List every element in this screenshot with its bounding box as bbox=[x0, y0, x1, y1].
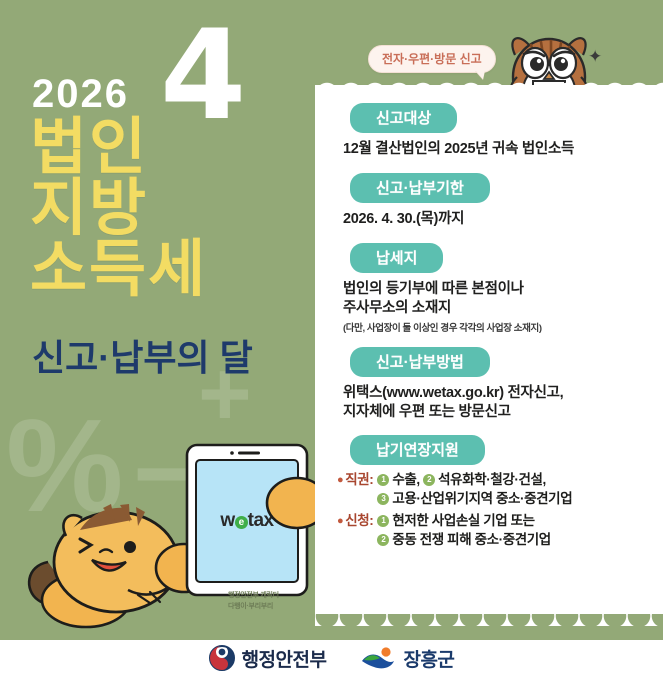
mascot-caption-line2: 다행이·부리부리 bbox=[228, 603, 273, 610]
section-3-line-2: 주사무소의 소재지 bbox=[343, 299, 663, 318]
extension-item-2-2: 중동 전쟁 피해 중소·중견기업 bbox=[392, 532, 550, 547]
poster-root: % – + 2026 4 법인 지방 소득세 신고·납부의 달 bbox=[0, 0, 663, 676]
taegeuk-icon bbox=[209, 645, 235, 671]
section-tax-place: 납세지 법인의 등기부에 따른 본점이나 주사무소의 소재지 (다만, 사업장이… bbox=[315, 243, 663, 334]
section-3-note: (다만, 사업장이 둘 이상인 경우 각각의 사업장 소재지) bbox=[343, 320, 663, 334]
extension-items-1: 1수출, 2석유화학·철강·건설, 3고용·산업위기지역 중소·중견기업 bbox=[377, 471, 572, 508]
title-line-1: 법인 bbox=[30, 118, 207, 179]
page-title: 법인 지방 소득세 bbox=[30, 118, 207, 300]
section-2-line-1: 2026. 4. 30.(목)까지 bbox=[343, 210, 663, 229]
year-label: 2026 bbox=[32, 74, 129, 114]
extension-item-1-1: 수출, bbox=[392, 472, 419, 487]
section-badge-2: 신고·납부기한 bbox=[350, 173, 490, 203]
section-badge-5: 납기연장지원 bbox=[350, 435, 485, 465]
extension-group-application: ● 신청: 1현저한 사업손실 기업 또는 2중동 전쟁 피해 중소·중견기업 bbox=[337, 512, 663, 549]
info-panel: 신고대상 12월 결산법인의 2025년 귀속 법인소득 신고·납부기한 202… bbox=[315, 85, 663, 630]
section-report-target: 신고대상 12월 결산법인의 2025년 귀속 법인소득 bbox=[315, 103, 663, 159]
extension-items-2: 1현저한 사업손실 기업 또는 2중동 전쟁 피해 중소·중견기업 bbox=[377, 512, 550, 549]
extension-item-1-3: 고용·산업위기지역 중소·중견기업 bbox=[392, 491, 572, 506]
section-badge-1: 신고대상 bbox=[350, 103, 457, 133]
section-deadline: 신고·납부기한 2026. 4. 30.(목)까지 bbox=[315, 173, 663, 229]
logo-jangheung: 장흥군 bbox=[360, 645, 454, 672]
logo-mois: 행정안전부 bbox=[209, 645, 327, 672]
section-badge-3: 납세지 bbox=[350, 243, 443, 273]
section-badge-4: 신고·납부방법 bbox=[350, 347, 490, 377]
num-badge-5: 2 bbox=[377, 534, 389, 546]
jangheung-mark-icon bbox=[360, 645, 396, 671]
logo-mois-label: 행정안전부 bbox=[242, 645, 327, 672]
section-body-2: 2026. 4. 30.(목)까지 bbox=[343, 210, 663, 229]
section-body-4: 위택스(www.wetax.go.kr) 전자신고, 지자체에 우편 또는 방문… bbox=[343, 384, 663, 422]
extension-key-2: 신청: bbox=[345, 512, 373, 530]
title-line-2: 지방 bbox=[30, 179, 207, 240]
num-badge-1: 1 bbox=[377, 474, 389, 486]
page-subtitle: 신고·납부의 달 bbox=[32, 340, 253, 376]
num-badge-3: 3 bbox=[377, 493, 389, 505]
logo-jangheung-label: 장흥군 bbox=[403, 645, 454, 672]
bullet-dot-icon: ● bbox=[337, 471, 343, 489]
num-badge-2: 2 bbox=[423, 474, 435, 486]
section-body-1: 12월 결산법인의 2025년 귀속 법인소득 bbox=[343, 140, 663, 159]
extension-item-2-1: 현저한 사업손실 기업 또는 bbox=[392, 513, 534, 528]
extension-list: ● 직권: 1수출, 2석유화학·철강·건설, 3고용·산업위기지역 중소·중견… bbox=[337, 471, 663, 550]
num-badge-4: 1 bbox=[377, 515, 389, 527]
extension-key-1: 직권: bbox=[345, 471, 373, 489]
extension-group-authority: ● 직권: 1수출, 2석유화학·철강·건설, 3고용·산업위기지역 중소·중견… bbox=[337, 471, 663, 508]
sparkle-icon: ✦ bbox=[588, 48, 602, 65]
section-1-line-1: 12월 결산법인의 2025년 귀속 법인소득 bbox=[343, 140, 663, 159]
mascot-caption-line1: 행정안전부 캐릭터 bbox=[228, 592, 279, 599]
speech-bubble: 전자·우편·방문 신고 bbox=[368, 45, 496, 73]
section-4-line-1: 위택스(www.wetax.go.kr) 전자신고, bbox=[343, 384, 663, 403]
footer-logos: 행정안전부 장흥군 bbox=[0, 640, 663, 676]
section-body-3: 법인의 등기부에 따른 본점이나 주사무소의 소재지 bbox=[343, 280, 663, 318]
section-3-line-1: 법인의 등기부에 따른 본점이나 bbox=[343, 280, 663, 299]
section-4-line-2: 지자체에 우편 또는 방문신고 bbox=[343, 403, 663, 422]
title-line-3: 소득세 bbox=[30, 240, 207, 301]
bullet-dot-icon-2: ● bbox=[337, 512, 343, 530]
panel-green-footer-strip bbox=[315, 626, 663, 640]
section-extension: 납기연장지원 ● 직권: 1수출, 2석유화학·철강·건설, 3고용·산업위기지… bbox=[315, 435, 663, 552]
section-method: 신고·납부방법 위택스(www.wetax.go.kr) 전자신고, 지자체에 … bbox=[315, 347, 663, 422]
mascot-caption: 행정안전부 캐릭터 다행이·부리부리 bbox=[228, 591, 279, 612]
extension-item-1-2: 석유화학·철강·건설, bbox=[438, 472, 546, 487]
